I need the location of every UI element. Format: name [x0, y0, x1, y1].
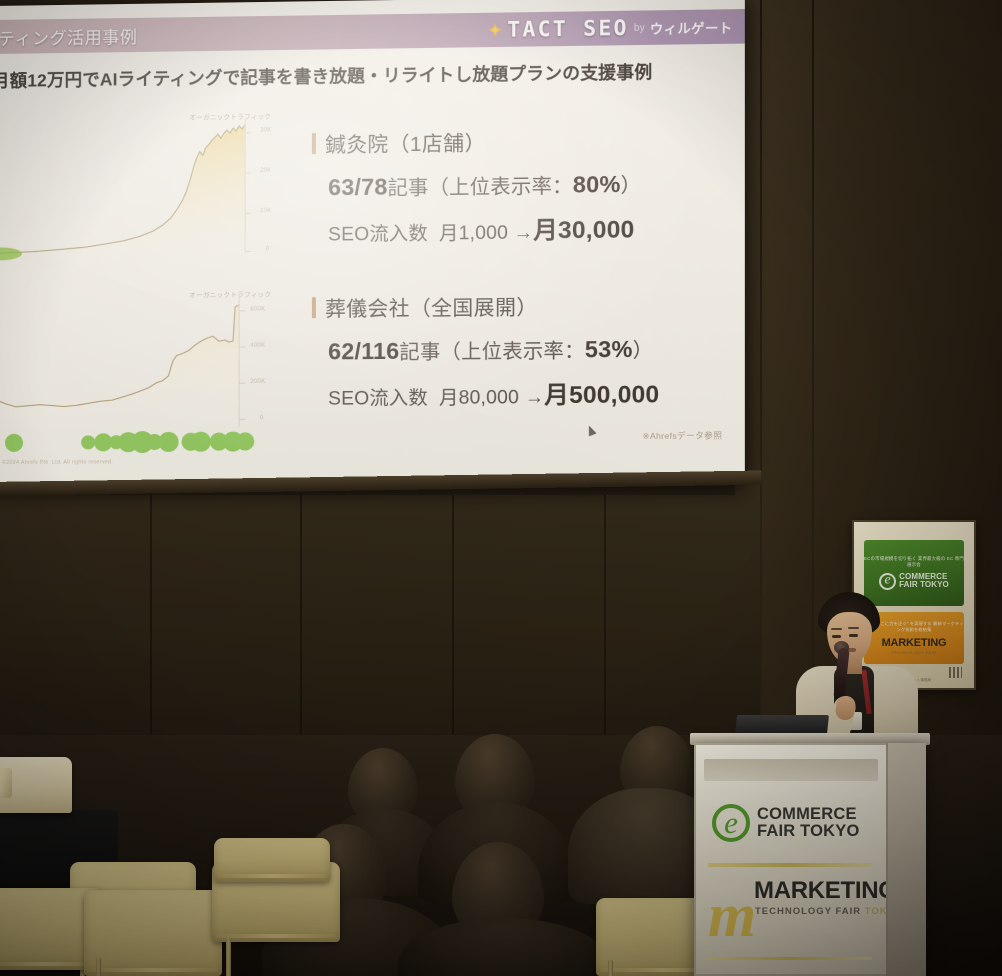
organic-traffic-chart-2: オーガニックトラフィック	[0, 288, 308, 466]
podium-lectern: COMMERCE FAIR TOKYO m MARKETING TECHNOLO…	[690, 733, 930, 976]
chair-leg	[96, 958, 101, 976]
panel-line	[604, 495, 606, 765]
laptop-on-podium	[735, 715, 829, 734]
case-1-rate-suffix: ）	[621, 175, 642, 198]
case-2-arrow: →	[525, 387, 545, 408]
case-2-traffic-after: 月500,000	[544, 381, 659, 409]
case-2-article-label: 記事（上位表示率：	[399, 340, 584, 364]
source-note: ※Ahrefsデータ参照	[642, 429, 722, 442]
speaker-face	[827, 612, 872, 664]
case-2-traffic-label: SEO流入数	[328, 388, 428, 410]
podium-marketing-logo: m MARKETING TECHNOLOGY FAIR TOKYO	[710, 877, 892, 917]
case-study-1: 鍼灸院（1店舗） 63/78記事（上位表示率：80%） SEO流入数 月1,00…	[312, 123, 720, 248]
chart-2-event-markers	[0, 430, 254, 454]
case-1-articles: 63/78記事（上位表示率：80%）	[328, 168, 720, 202]
accent-bar	[312, 297, 316, 318]
eye-right	[849, 634, 858, 637]
panel-line	[452, 495, 454, 765]
chart-1-ytick-0: 30K	[260, 128, 271, 134]
chair-leg	[608, 960, 613, 976]
case-2-traffic-before: 月80,000	[439, 387, 519, 409]
sparkle-icon	[488, 22, 502, 38]
podium-bottom-divider	[708, 957, 872, 960]
case-2-header: 葬儀会社（全国展開）	[312, 288, 720, 322]
organic-traffic-chart-1: オーガニックトラフィック	[0, 110, 308, 269]
qr-code-icon	[949, 667, 962, 678]
slide-header-bar: ティング活用事例 TACT SEO by ウィルゲート	[0, 9, 745, 54]
panel-line	[150, 495, 152, 765]
presentation-slide: ティング活用事例 TACT SEO by ウィルゲート 月額12万円でAIライテ…	[0, 0, 745, 488]
projector-lens	[0, 768, 12, 798]
slide-header-title: ティング活用事例	[0, 22, 137, 49]
m-logo-glyph: m	[708, 885, 756, 947]
podium-side-panel	[886, 743, 926, 976]
case-1-arrow: →	[514, 222, 534, 243]
podium-ecommerce-logo: COMMERCE FAIR TOKYO	[712, 797, 882, 849]
podium-shelf	[704, 759, 878, 781]
poster-ec-line2: FAIR TOKYO	[899, 581, 949, 590]
case-studies: 鍼灸院（1店舗） 63/78記事（上位表示率：80%） SEO流入数 月1,00…	[312, 123, 720, 446]
slide-subtitle: 月額12万円でAIライティングで記事を書き放題・リライトし放題プランの支援事例	[0, 58, 745, 93]
case-2-title: 葬儀会社（全国展開）	[325, 290, 538, 322]
eyebrow-left	[831, 628, 842, 630]
case-1-traffic-label: SEO流入数	[328, 223, 428, 245]
brand-name: TACT SEO	[507, 16, 628, 42]
eye-left	[832, 635, 841, 638]
case-2-traffic: SEO流入数 月80,000 →月500,000	[328, 374, 720, 412]
chart-2-title: オーガニックトラフィック	[189, 288, 271, 299]
podium-divider	[708, 863, 872, 867]
case-1-title: 鍼灸院（1店舗）	[325, 126, 486, 158]
tact-seo-logo: TACT SEO by ウィルゲート	[488, 14, 733, 42]
charts-column: オーガニックトラフィック	[0, 110, 308, 466]
case-1-traffic-after: 月30,000	[533, 216, 634, 244]
case-1-rate: 80%	[573, 171, 621, 198]
chart-2-ytick-2: 200K	[250, 379, 265, 385]
chart-1-ytick-2: 10K	[260, 208, 271, 214]
case-1-article-label: 記事（上位表示率：	[388, 175, 573, 199]
chair-leg	[226, 938, 231, 976]
chart-1-svg	[0, 110, 308, 269]
wall-seam	[760, 0, 762, 742]
chart-2-ytick-1: 400K	[250, 343, 265, 349]
brand-sub: ウィルゲート	[650, 17, 733, 37]
chart-2-ytick-3: 0	[260, 415, 264, 421]
conference-room-photo: ティング活用事例 TACT SEO by ウィルゲート 月額12万円でAIライテ…	[0, 0, 1002, 976]
podium-ec-line1: COMMERCE	[757, 806, 860, 823]
brand-by: by	[634, 22, 645, 33]
e-logo-icon	[712, 804, 750, 842]
case-2-articles: 62/116記事（上位表示率：53%）	[328, 333, 720, 365]
poster-green-caption: ECの市場規模を切り拓く 業界最大級の EC 専門展示会	[864, 556, 964, 569]
chart-2-ytick-0: 600K	[250, 307, 265, 313]
accent-bar	[312, 133, 316, 154]
case-1-traffic-before: 月1,000	[439, 223, 508, 245]
chart-1-ytick-1: 20K	[260, 168, 271, 174]
case-study-2: 葬儀会社（全国展開） 62/116記事（上位表示率：53%） SEO流入数 月8…	[312, 288, 720, 411]
case-2-article-count: 62/116	[328, 338, 399, 365]
lower-wall-panels	[0, 495, 760, 765]
chart-1-ytick-3: 0	[266, 246, 270, 252]
case-1-article-count: 63/78	[328, 173, 387, 200]
chart-2-svg	[0, 288, 308, 466]
case-1-header: 鍼灸院（1店舗）	[312, 123, 720, 158]
case-2-rate-suffix: ）	[633, 340, 654, 362]
chair	[84, 890, 222, 976]
podium-ec-line2: FAIR TOKYO	[757, 823, 860, 840]
poster-e-logo-icon	[879, 573, 896, 590]
eyebrow-right	[848, 627, 859, 629]
podium-mk-sub-main: TECHNOLOGY FAIR	[755, 906, 861, 917]
projection-screen: ティング活用事例 TACT SEO by ウィルゲート 月額12万円でAIライテ…	[0, 0, 745, 488]
case-1-traffic: SEO流入数 月1,000 →月30,000	[328, 208, 720, 247]
case-2-rate: 53%	[585, 336, 633, 363]
chair-back-row	[214, 838, 330, 882]
chart-footnote: ©2024 Ahrefs Pte. Ltd. All rights reserv…	[2, 459, 113, 466]
chart-1-title: オーガニックトラフィック	[189, 110, 271, 121]
panel-line	[300, 495, 302, 765]
